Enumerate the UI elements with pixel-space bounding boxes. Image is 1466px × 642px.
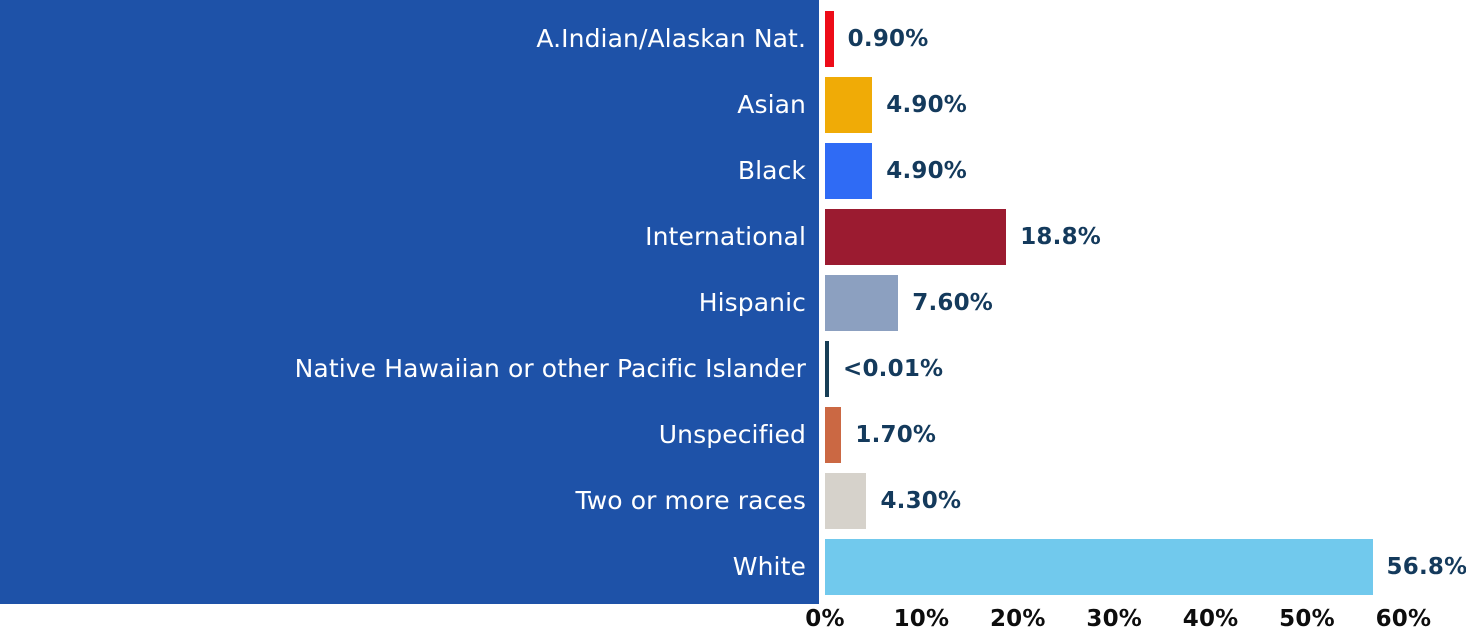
category-row: Two or more races [0, 468, 819, 534]
bar-segment[interactable] [825, 407, 841, 463]
bar-row: 1.70% [825, 402, 1458, 468]
category-label: Unspecified [659, 421, 806, 449]
bar-value-label: 18.8% [1020, 224, 1101, 250]
bar-segment[interactable] [825, 539, 1373, 595]
x-axis-tick: 40% [1183, 606, 1239, 632]
x-axis-tick: 30% [1086, 606, 1142, 632]
bar-row: 0.90% [825, 6, 1458, 72]
category-label: Black [738, 157, 806, 185]
x-axis-tick: 50% [1279, 606, 1335, 632]
x-axis-tick: 10% [894, 606, 950, 632]
bar-row: 4.90% [825, 138, 1458, 204]
category-row: A.Indian/Alaskan Nat. [0, 6, 819, 72]
bar-segment[interactable] [825, 341, 829, 397]
category-label: Hispanic [699, 289, 806, 317]
bar-value-label: 4.90% [886, 158, 967, 184]
category-label: International [645, 223, 806, 251]
category-row: Hispanic [0, 270, 819, 336]
bar-value-label: 4.30% [880, 488, 961, 514]
category-row: Unspecified [0, 402, 819, 468]
bar-segment[interactable] [825, 11, 834, 67]
bar-value-label: 56.8% [1387, 554, 1466, 580]
x-axis-tick: 60% [1376, 606, 1432, 632]
bar-row: 4.90% [825, 72, 1458, 138]
category-label: A.Indian/Alaskan Nat. [536, 25, 806, 53]
bar-segment[interactable] [825, 143, 872, 199]
category-axis-panel: A.Indian/Alaskan Nat. Asian Black Intern… [0, 0, 819, 604]
bar-value-label: 0.90% [848, 26, 929, 52]
bar-row: 18.8% [825, 204, 1458, 270]
x-axis: 0% 10% 20% 30% 40% 50% 60% [825, 604, 1458, 642]
bar-row: 4.30% [825, 468, 1458, 534]
category-label: Two or more races [576, 487, 807, 515]
bar-segment[interactable] [825, 77, 872, 133]
x-axis-tick: 20% [990, 606, 1046, 632]
horizontal-bar-chart: A.Indian/Alaskan Nat. Asian Black Intern… [0, 0, 1466, 642]
bar-segment[interactable] [825, 473, 866, 529]
category-row: Asian [0, 72, 819, 138]
bar-value-label: 7.60% [912, 290, 993, 316]
bar-row: <0.01% [825, 336, 1458, 402]
category-row: Native Hawaiian or other Pacific Islande… [0, 336, 819, 402]
category-label: Native Hawaiian or other Pacific Islande… [295, 355, 806, 383]
category-row: International [0, 204, 819, 270]
bar-value-label: <0.01% [843, 356, 943, 382]
bar-row: 56.8% [825, 534, 1458, 600]
bar-segment[interactable] [825, 209, 1006, 265]
category-label-list: A.Indian/Alaskan Nat. Asian Black Intern… [0, 6, 819, 600]
category-row: White [0, 534, 819, 600]
category-label: White [733, 553, 806, 581]
category-label: Asian [737, 91, 806, 119]
plot-area: 0.90% 4.90% 4.90% 18.8% 7.60% <0.01% 1.7… [825, 6, 1458, 600]
bar-value-label: 1.70% [855, 422, 936, 448]
bar-segment[interactable] [825, 275, 898, 331]
bar-value-label: 4.90% [886, 92, 967, 118]
bar-row: 7.60% [825, 270, 1458, 336]
x-axis-tick: 0% [805, 606, 844, 632]
category-row: Black [0, 138, 819, 204]
